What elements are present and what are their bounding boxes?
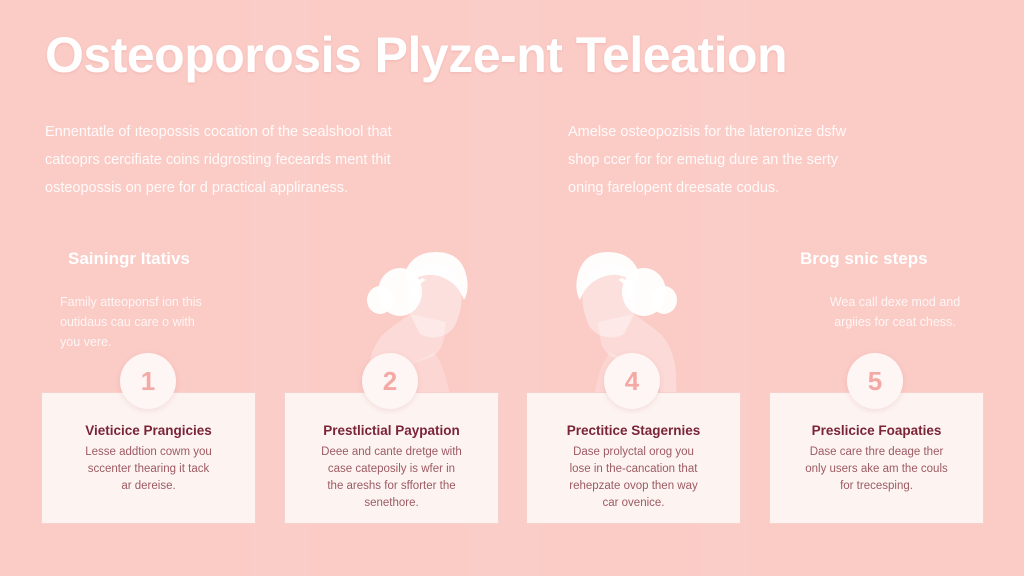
step-card-title: Prectitice Stagernies (539, 423, 728, 438)
side-heading-left: Sainingr Itativs (68, 249, 190, 269)
step-card[interactable]: Preslicice Foapaties Dase care thre deag… (769, 392, 984, 524)
step-card-body: Dase care thre deage ther only users ake… (782, 444, 971, 495)
step-card[interactable]: Prestlictial Paypation Deee and cante dr… (284, 392, 499, 524)
step-card-body: Deee and cante dretge with case cateposi… (297, 444, 486, 512)
step-card-body: Lesse addtion cowm you sccenter thearing… (54, 444, 243, 495)
step-card-body: Dase prolyctal orog you lose in the-canc… (539, 444, 728, 512)
step-card-line: the areshs for sfforter the (297, 478, 486, 495)
step-card-line: lose in the-cancation that (539, 461, 728, 478)
step-card-line: Deee and cante dretge with (297, 444, 486, 461)
step-number-circle: 5 (847, 353, 903, 409)
step-card-line: rehepzate ovop then way (539, 478, 728, 495)
step-card-line: ar dereise. (54, 478, 243, 495)
step-card-title: Vieticice Prangicies (54, 423, 243, 438)
step-card-title: Prestlictial Paypation (297, 423, 486, 438)
step-card-line: for trecesping. (782, 478, 971, 495)
step-card-line: car ovenice. (539, 495, 728, 512)
intro-right-line: Amelse osteopozisis for the lateronize d… (568, 118, 988, 146)
step-card-line: Dase prolyctal orog you (539, 444, 728, 461)
step-card-line: sccenter thearing it tack (54, 461, 243, 478)
side-heading-right: Brog snic steps (800, 249, 928, 269)
intro-left-line: osteopossis on pere for d practical appl… (45, 174, 550, 202)
intro-right-line: shop ccer for for emetug dure an the ser… (568, 146, 988, 174)
side-left-line: Family atteoponsf ion this (60, 292, 260, 312)
side-right-line: Wea call dexe mod and (795, 292, 995, 312)
intro-paragraph-left: Ennentatle of ıteopossis cocation of the… (45, 118, 550, 202)
step-card-line: Dase care thre deage ther (782, 444, 971, 461)
step-card-line: case cateposily is wfer in (297, 461, 486, 478)
intro-left-line: catcoprs cercifiate coins ridgrosting fe… (45, 146, 550, 174)
step-card-line: Lesse addtion cowm you (54, 444, 243, 461)
step-card-title: Preslicice Foapaties (782, 423, 971, 438)
step-card[interactable]: Vieticice Prangicies Lesse addtion cowm … (41, 392, 256, 524)
page-title: Osteoporosis Plyze-nt Teleation (45, 26, 995, 84)
step-number-circle: 1 (120, 353, 176, 409)
side-left-line: you vere. (60, 332, 260, 352)
intro-left-line: Ennentatle of ıteopossis cocation of the… (45, 118, 550, 146)
step-card[interactable]: Prectitice Stagernies Dase prolyctal oro… (526, 392, 741, 524)
step-card-line: only users ake am the couls (782, 461, 971, 478)
side-right-line: argiies for ceat chess. (795, 312, 995, 332)
side-body-right: Wea call dexe mod and argiies for ceat c… (795, 292, 995, 332)
intro-right-line: oning farelopent dreesate codus. (568, 174, 988, 202)
intro-paragraph-right: Amelse osteopozisis for the lateronize d… (568, 118, 988, 202)
side-left-line: outidaus cau care o with (60, 312, 260, 332)
step-card-line: senethore. (297, 495, 486, 512)
side-body-left: Family atteoponsf ion this outidaus cau … (60, 292, 260, 352)
step-number-circle: 2 (362, 353, 418, 409)
step-number-circle: 4 (604, 353, 660, 409)
infographic-poster: Osteoporosis Plyze-nt Teleation Ennentat… (0, 0, 1024, 576)
